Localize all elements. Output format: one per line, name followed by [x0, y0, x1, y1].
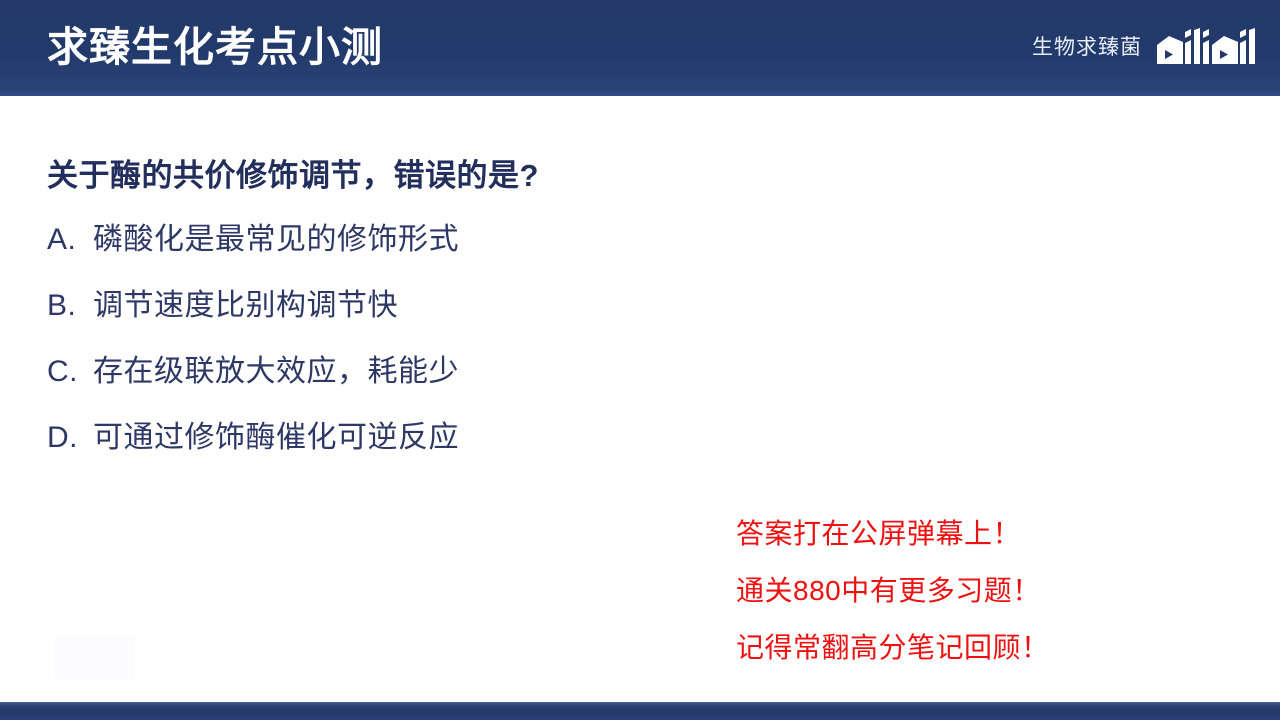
option-list: A. 磷酸化是最常见的修饰形式 B. 调节速度比别构调节快 C. 存在级联放大效… — [47, 219, 747, 483]
option-a-letter: A. — [47, 219, 93, 261]
option-c-text: 存在级联放大效应，耗能少 — [93, 351, 459, 393]
option-d-letter: D. — [47, 417, 93, 459]
header-bar: 求臻生化考点小测 生物求臻菌 — [0, 0, 1280, 96]
option-b[interactable]: B. 调节速度比别构调节快 — [47, 285, 747, 351]
note-line-3: 记得常翻高分笔记回顾！ — [736, 619, 1196, 676]
option-c[interactable]: C. 存在级联放大效应，耗能少 — [47, 351, 747, 417]
footer-bar — [0, 702, 1280, 720]
option-a[interactable]: A. 磷酸化是最常见的修饰形式 — [47, 219, 747, 285]
brand-area: 生物求臻菌 — [1032, 26, 1258, 70]
instruction-notes: 答案打在公屏弹幕上！ 通关880中有更多习题！ 记得常翻高分笔记回顾！ — [736, 505, 1196, 676]
note-line-2: 通关880中有更多习题！ — [736, 562, 1196, 619]
option-d[interactable]: D. 可通过修饰酶催化可逆反应 — [47, 417, 747, 483]
question-text: 关于酶的共价修饰调节，错误的是? — [47, 154, 539, 198]
slide-content: 关于酶的共价修饰调节，错误的是? A. 磷酸化是最常见的修饰形式 B. 调节速度… — [0, 96, 1280, 702]
brand-name-label: 生物求臻菌 — [1032, 33, 1142, 63]
note-line-1: 答案打在公屏弹幕上！ — [736, 505, 1196, 562]
option-c-letter: C. — [47, 351, 93, 393]
page-title: 求臻生化考点小测 — [47, 18, 383, 76]
option-b-text: 调节速度比别构调节快 — [93, 285, 398, 327]
faint-watermark — [55, 634, 135, 680]
bilibili-logo — [1154, 28, 1258, 68]
option-b-letter: B. — [47, 285, 93, 327]
option-a-text: 磷酸化是最常见的修饰形式 — [93, 219, 459, 261]
option-d-text: 可通过修饰酶催化可逆反应 — [93, 417, 459, 459]
